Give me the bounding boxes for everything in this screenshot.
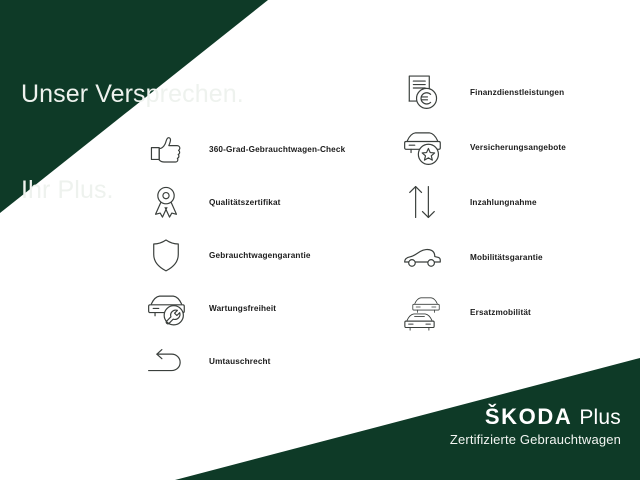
- quality-seal-icon: [140, 176, 192, 228]
- feature-item-right-of-exchange[interactable]: Umtauschrecht: [140, 335, 345, 387]
- brand-plus-label: Plus: [579, 406, 621, 430]
- car-side-icon: [396, 231, 448, 283]
- feature-label: Umtauschrecht: [209, 357, 271, 366]
- thumbs-up-icon: [140, 123, 192, 175]
- feature-label: 360-Grad-Gebrauchtwagen-Check: [209, 145, 345, 154]
- headline-line-1: Unser Versprechen.: [21, 78, 244, 110]
- car-wrench-icon: [140, 282, 192, 334]
- shield-icon: [140, 229, 192, 281]
- feature-item-quality-certificate[interactable]: Qualitätszertifikat: [140, 176, 345, 228]
- brand-lockup: ŠKODA Plus Zertifizierte Gebrauchtwagen: [450, 405, 621, 448]
- feature-list-left: 360-Grad-Gebrauchtwagen-Check Qualitätsz…: [140, 123, 345, 388]
- feature-item-used-car-warranty[interactable]: Gebrauchtwagengarantie: [140, 229, 345, 281]
- brand-subtitle: Zertifizierte Gebrauchtwagen: [450, 431, 621, 448]
- car-star-icon: [396, 121, 448, 173]
- two-cars-icon: [396, 286, 448, 338]
- feature-item-insurance-offers[interactable]: Versicherungsangebote: [396, 121, 566, 173]
- feature-item-financial-services[interactable]: Finanzdienstleistungen: [396, 66, 566, 118]
- feature-item-mobility-guarantee[interactable]: Mobilitätsgarantie: [396, 231, 566, 283]
- up-down-arrows-icon: [396, 176, 448, 228]
- feature-item-360-check[interactable]: 360-Grad-Gebrauchtwagen-Check: [140, 123, 345, 175]
- feature-label: Finanzdienstleistungen: [470, 88, 564, 97]
- feature-label: Qualitätszertifikat: [209, 198, 281, 207]
- feature-label: Versicherungsangebote: [470, 143, 566, 152]
- feature-item-trade-in[interactable]: Inzahlungnahme: [396, 176, 566, 228]
- skoda-wordmark: ŠKODA: [485, 405, 572, 429]
- feature-item-maintenance-free[interactable]: Wartungsfreiheit: [140, 282, 345, 334]
- feature-label: Gebrauchtwagengarantie: [209, 251, 311, 260]
- document-euro-icon: [396, 66, 448, 118]
- brand-wordmark-row: ŠKODA Plus: [450, 405, 621, 430]
- promo-banner: Unser Versprechen. Ihr Plus. 360-Grad-Ge…: [0, 0, 640, 480]
- feature-label: Wartungsfreiheit: [209, 304, 276, 313]
- feature-list-right: Finanzdienstleistungen Versicherungsange…: [396, 66, 566, 341]
- feature-label: Ersatzmobilität: [470, 308, 531, 317]
- return-arrow-icon: [140, 335, 192, 387]
- feature-item-replacement-mobility[interactable]: Ersatzmobilität: [396, 286, 566, 338]
- feature-label: Mobilitätsgarantie: [470, 253, 543, 262]
- feature-label: Inzahlungnahme: [470, 198, 537, 207]
